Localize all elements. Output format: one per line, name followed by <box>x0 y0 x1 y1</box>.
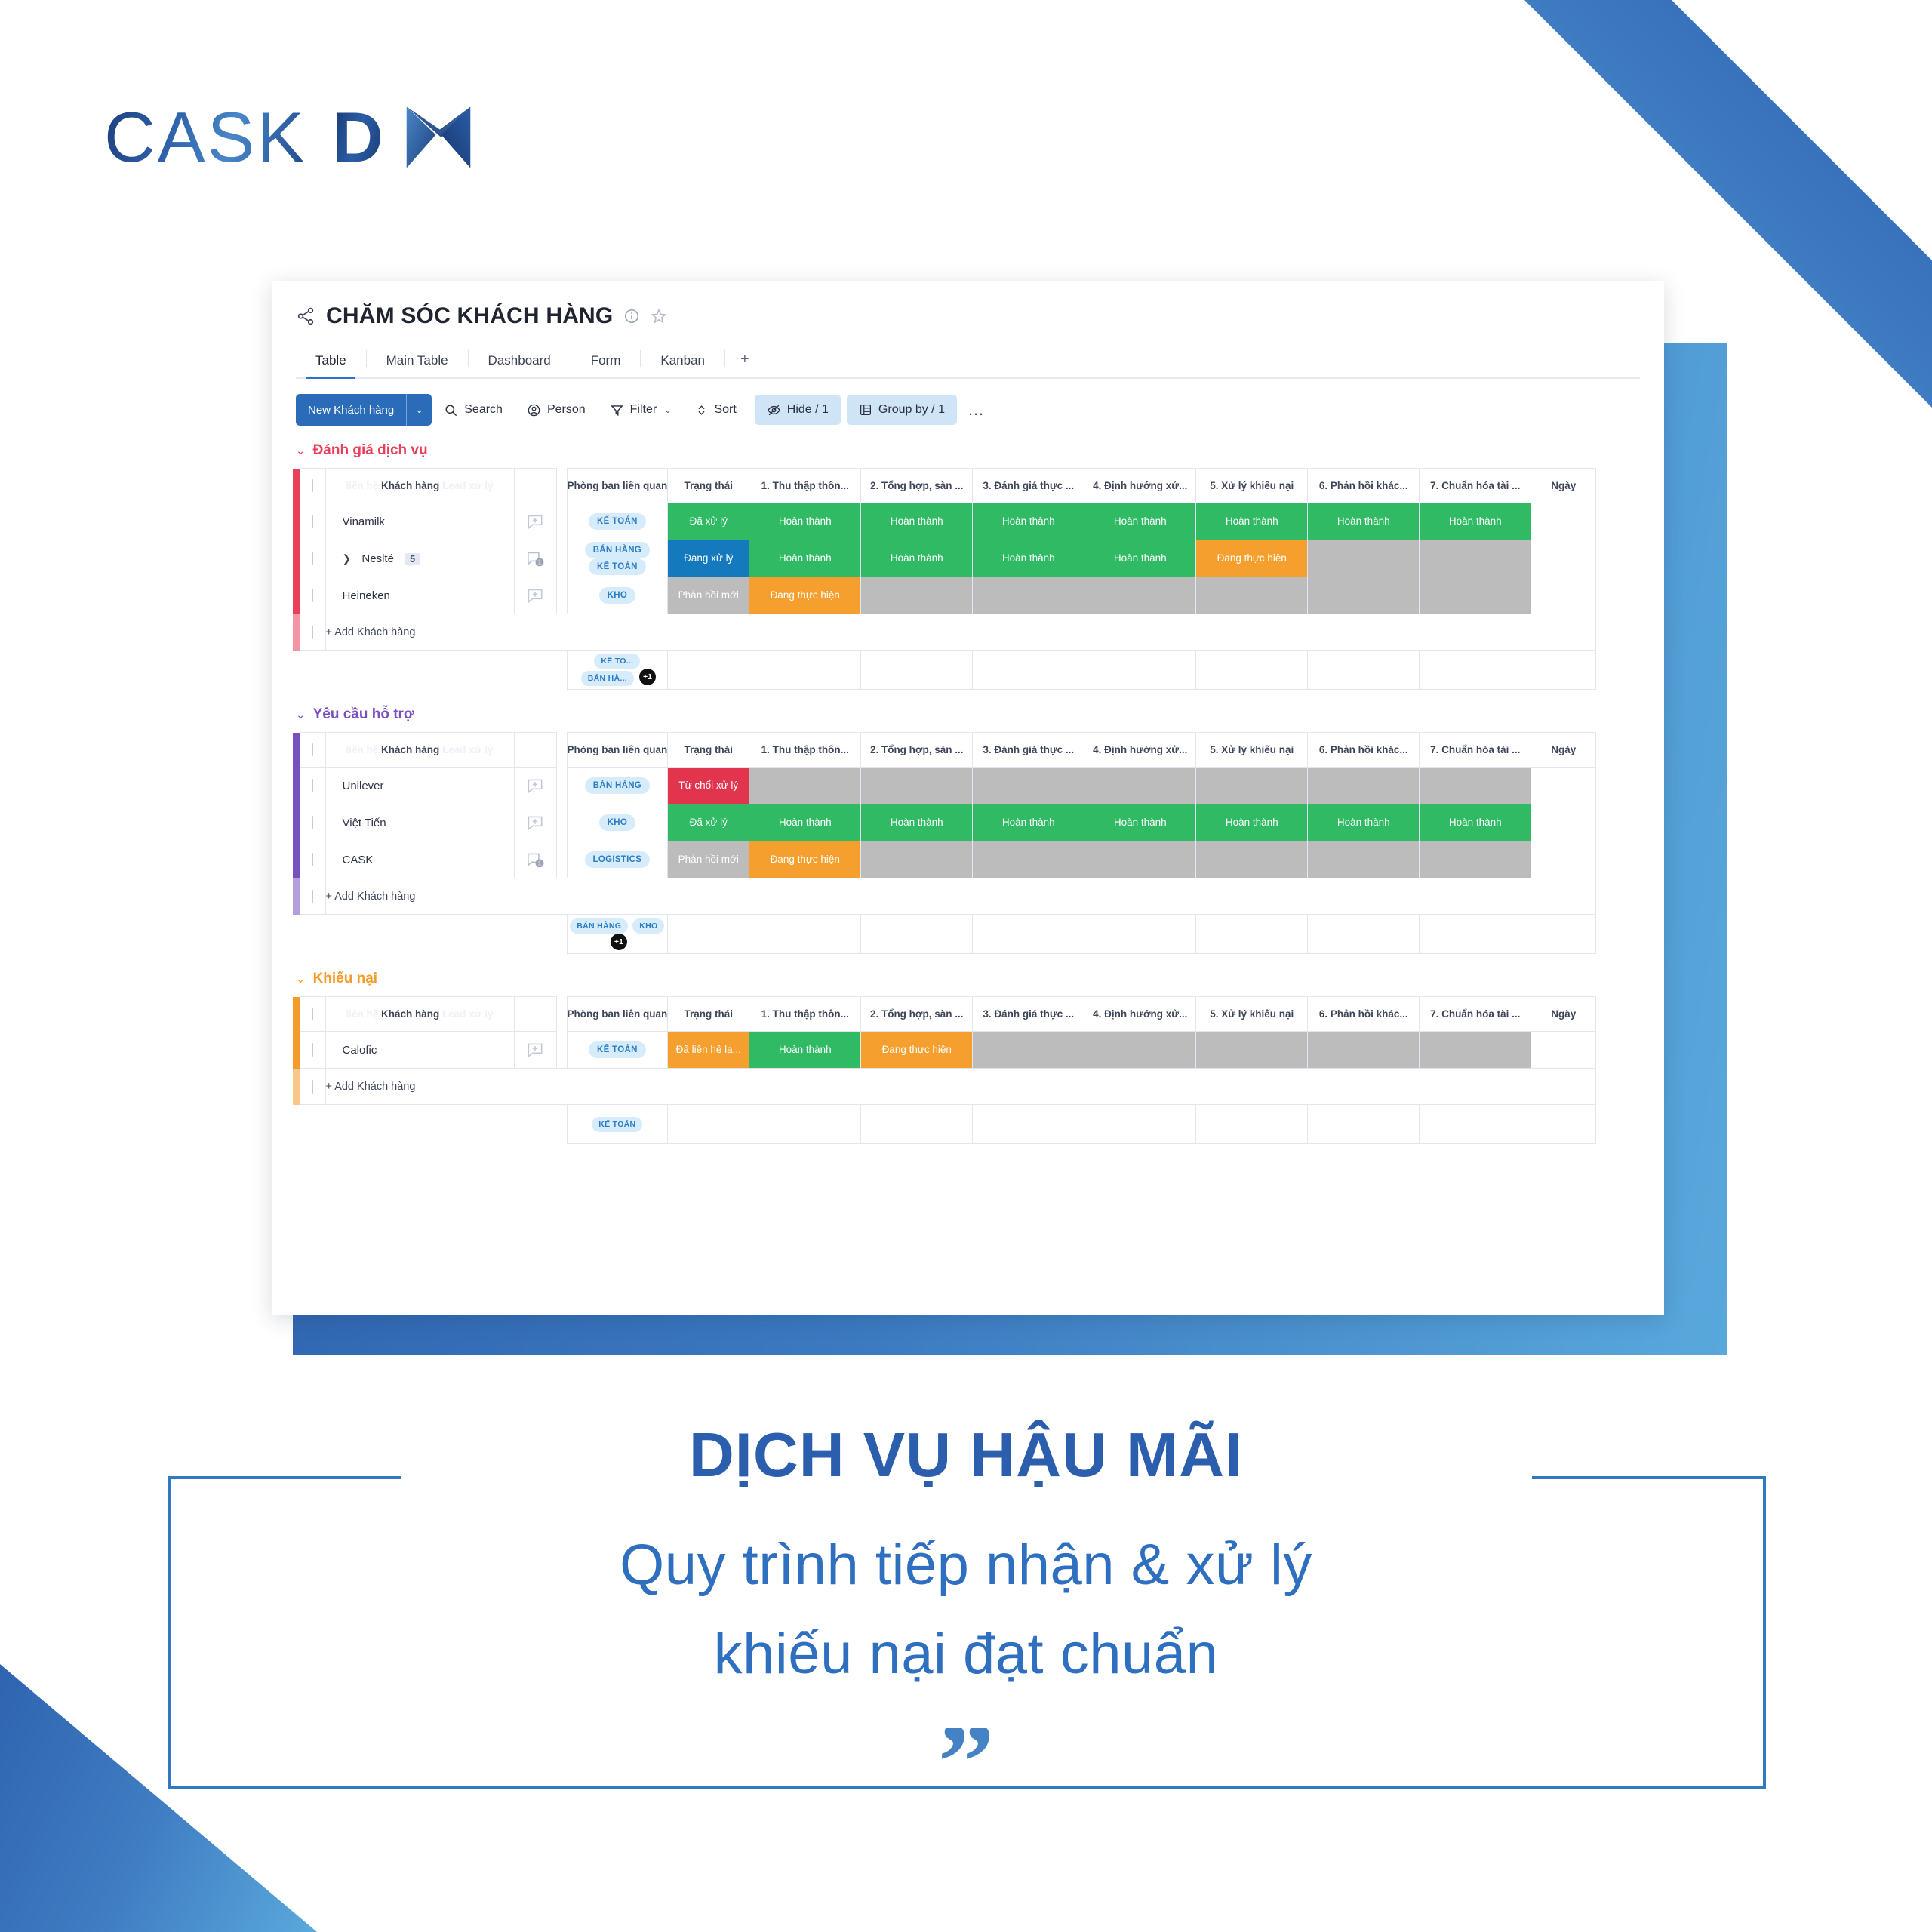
new-item-button[interactable]: New Khách hàng ⌄ <box>296 394 432 426</box>
status-chip: Hoàn thành <box>749 540 860 577</box>
checkbox-icon <box>312 743 313 756</box>
status-chip <box>1196 577 1307 614</box>
grid-cell[interactable] <box>861 841 973 878</box>
grid-cell[interactable]: Hoàn thành <box>861 503 973 540</box>
row-name-cell[interactable]: ❯ Neslté 5 <box>325 540 514 577</box>
chat-plus-icon[interactable] <box>525 586 545 605</box>
dept-tag[interactable]: KHO <box>599 814 635 831</box>
row-name-label: CASK <box>343 854 374 866</box>
table-row[interactable]: Unilever BÁN HÀNG Từ chối xử lý <box>293 768 1596 804</box>
row-chat-cell[interactable] <box>514 804 556 841</box>
status-chip <box>1420 577 1531 614</box>
status-chip <box>1308 1032 1419 1068</box>
row-chat-cell[interactable] <box>514 503 556 540</box>
column-header-step-5[interactable]: 5. Xử lý khiếu nại <box>1196 469 1308 503</box>
add-row-checkbox <box>300 1069 325 1105</box>
column-header-name[interactable]: liên hệ Khách hàng Lead xử lý <box>325 733 514 768</box>
x-butterfly-icon <box>405 103 472 171</box>
summary-step-cell <box>973 915 1084 954</box>
grid-cell[interactable] <box>1420 540 1531 577</box>
star-icon[interactable] <box>651 308 667 325</box>
poster-canvas: CASK D CHĂM SÓC <box>0 0 1932 1932</box>
row-status-cell[interactable]: Đã xử lý <box>668 503 749 540</box>
grid-cell[interactable]: Hoàn thành <box>1084 503 1196 540</box>
checkbox-icon <box>312 626 313 639</box>
row-date-cell[interactable] <box>1531 540 1596 577</box>
row-dept-cell[interactable]: BÁN HÀNG <box>567 768 668 804</box>
table-row[interactable]: Vinamilk KẾ TOÁN Đã xử lý Hoàn thành Hoà… <box>293 503 1596 540</box>
status-chip: Phản hồi mới <box>668 841 749 878</box>
grid-cell[interactable]: Đang thực hiện <box>749 841 861 878</box>
column-header-name[interactable]: liên hệ Khách hàng Lead xử lý <box>325 469 514 503</box>
column-gap <box>556 469 567 503</box>
status-chip <box>1420 768 1531 804</box>
grid-cell[interactable] <box>1196 841 1308 878</box>
row-date-cell[interactable] <box>1531 1032 1596 1069</box>
summary-spacer <box>300 915 325 954</box>
tab-kanban[interactable]: Kanban <box>641 353 724 377</box>
tab-form[interactable]: Form <box>571 353 641 377</box>
chevron-down-icon[interactable]: ⌄ <box>296 972 306 986</box>
grid-cell[interactable]: Hoàn thành <box>973 503 1084 540</box>
subitem-count-badge: 5 <box>405 553 420 565</box>
grid-cell[interactable] <box>1196 577 1308 614</box>
grid-cell[interactable] <box>1420 1032 1531 1069</box>
column-header-step-7[interactable]: 7. Chuẩn hóa tài ... <box>1420 733 1531 768</box>
grid-cell[interactable] <box>1084 768 1196 804</box>
summary-step-cell <box>1196 1105 1308 1144</box>
row-name-label: Calofic <box>343 1044 377 1057</box>
row-checkbox[interactable] <box>300 540 325 577</box>
status-chip <box>973 841 1084 878</box>
row-name-label: Việt Tiến <box>343 817 386 829</box>
status-chip <box>1196 768 1307 804</box>
summary-step-cell <box>1420 1105 1531 1144</box>
grid-cell[interactable] <box>1420 577 1531 614</box>
summary-gap <box>556 915 567 954</box>
grid-cell[interactable]: Hoàn thành <box>973 540 1084 577</box>
checkbox-icon <box>312 479 313 492</box>
column-header-step-7[interactable]: 7. Chuẩn hóa tài ... <box>1420 469 1531 503</box>
person-filter-button[interactable]: Person <box>515 395 598 425</box>
svg-text:1: 1 <box>538 860 542 867</box>
group-color-bar <box>293 469 300 503</box>
status-chip <box>1308 540 1419 577</box>
column-header-dept[interactable]: Phòng ban liên quan <box>567 469 668 503</box>
grid-cell[interactable]: Hoàn thành <box>749 804 861 841</box>
status-chip <box>861 768 972 804</box>
add-row[interactable]: + Add Khách hàng <box>293 878 1596 915</box>
status-chip: Hoàn thành <box>1196 503 1307 540</box>
filter-label: Filter <box>630 403 657 417</box>
board-group: ⌄ Khiếu nại liên hệ Khách hàng Lead xử l… <box>272 971 1664 1144</box>
board-grid: ⌄ Đánh giá dịch vụ liên hệ Khách hàng Le… <box>272 438 1664 1144</box>
grid-cell[interactable]: Hoàn thành <box>749 503 861 540</box>
group-color-bar <box>293 841 300 878</box>
overflow-count-badge: +1 <box>611 934 627 950</box>
hide-columns-button[interactable]: Hide / 1 <box>755 395 841 425</box>
add-view-button[interactable]: + <box>725 351 764 377</box>
row-status-cell[interactable]: Phản hồi mới <box>668 577 749 614</box>
row-checkbox[interactable] <box>300 768 325 804</box>
row-dept-cell[interactable]: LOGISTICS <box>567 841 668 878</box>
dept-tag[interactable]: BÁN HÀNG <box>585 777 650 794</box>
row-status-cell[interactable]: Từ chối xử lý <box>668 768 749 804</box>
column-header-date[interactable]: Ngày <box>1531 733 1596 768</box>
status-chip: Hoàn thành <box>973 804 1084 841</box>
row-dept-cell[interactable]: KẾ TOÁN <box>567 503 668 540</box>
grid-cell[interactable] <box>1084 1032 1196 1069</box>
quote-mark-icon: ” <box>0 1728 1932 1796</box>
chat-plus-icon[interactable] <box>525 512 545 531</box>
column-header-step-4[interactable]: 4. Định hướng xử... <box>1084 733 1196 768</box>
column-header-step-2[interactable]: 2. Tổng hợp, sàn ... <box>861 469 973 503</box>
status-chip: Hoàn thành <box>1196 804 1307 841</box>
status-chip: Hoàn thành <box>973 503 1084 540</box>
grid-cell[interactable] <box>861 768 973 804</box>
card-header: CHĂM SÓC KHÁCH HÀNG Table Main Table Das… <box>272 281 1664 379</box>
group-title-label: Khiếu nại <box>313 971 378 987</box>
row-dept-cell[interactable]: KHO <box>567 577 668 614</box>
row-date-cell[interactable] <box>1531 768 1596 804</box>
checkbox-icon <box>312 779 313 792</box>
group-color-bar <box>293 1032 300 1069</box>
status-chip: Hoàn thành <box>1308 804 1419 841</box>
add-row[interactable]: + Add Khách hàng <box>293 614 1596 651</box>
column-header-step-1[interactable]: 1. Thu thập thôn... <box>749 733 861 768</box>
grid-cell[interactable]: Hoàn thành <box>973 804 1084 841</box>
row-dept-cell[interactable]: BÁN HÀNGKẾ TOÁN <box>567 540 668 577</box>
row-date-cell[interactable] <box>1531 503 1596 540</box>
summary-gap <box>556 1105 567 1144</box>
column-header-step-6[interactable]: 6. Phản hồi khác... <box>1308 469 1420 503</box>
row-dept-cell[interactable]: KHO <box>567 804 668 841</box>
group-header[interactable]: ⌄ Khiếu nại <box>272 971 1664 987</box>
row-name-cell[interactable]: Calofic <box>325 1032 514 1069</box>
add-row-checkbox <box>300 614 325 651</box>
grid-cell[interactable] <box>1308 1032 1420 1069</box>
row-chat-cell[interactable]: 1 <box>514 540 556 577</box>
column-header-step-6[interactable]: 6. Phản hồi khác... <box>1308 997 1420 1032</box>
row-checkbox[interactable] <box>300 841 325 878</box>
row-chat-cell[interactable] <box>514 768 556 804</box>
grid-cell[interactable]: Đang thực hiện <box>861 1032 973 1069</box>
info-icon[interactable] <box>623 308 640 325</box>
column-header-step-7[interactable]: 7. Chuẩn hóa tài ... <box>1420 997 1531 1032</box>
row-date-cell[interactable] <box>1531 804 1596 841</box>
grid-cell[interactable]: Hoàn thành <box>1196 503 1308 540</box>
column-header-step-4[interactable]: 4. Định hướng xử... <box>1084 997 1196 1032</box>
row-gap <box>556 768 567 804</box>
grid-cell[interactable] <box>1308 841 1420 878</box>
summary-dept-cell: BÁN HÀNGKHO+1 <box>567 915 668 954</box>
tab-dashboard[interactable]: Dashboard <box>469 353 571 377</box>
grid-cell[interactable] <box>1420 768 1531 804</box>
grid-cell[interactable] <box>1196 768 1308 804</box>
sort-button[interactable]: Sort <box>683 395 748 425</box>
table-row[interactable]: CASK 1 LOGISTICS Phản hồi mới Đang thực … <box>293 841 1596 878</box>
new-item-label: New Khách hàng <box>296 394 406 426</box>
chat-badge-icon[interactable]: 1 <box>525 549 545 568</box>
table-row[interactable]: ❯ Neslté 5 1 BÁN HÀNGKẾ TOÁN Đang xử lý … <box>293 540 1596 577</box>
table-header-row: liên hệ Khách hàng Lead xử lý Phòng ban … <box>293 469 1596 503</box>
column-header-date[interactable]: Ngày <box>1531 469 1596 503</box>
summary-status-cell <box>668 1105 749 1144</box>
column-header-date[interactable]: Ngày <box>1531 997 1596 1032</box>
add-row-checkbox <box>300 878 325 915</box>
column-header-step-1[interactable]: 1. Thu thập thôn... <box>749 469 861 503</box>
more-options-button[interactable]: … <box>957 400 996 420</box>
row-chat-cell[interactable]: 1 <box>514 841 556 878</box>
grid-cell[interactable]: Hoàn thành <box>861 540 973 577</box>
column-header-step-3[interactable]: 3. Đánh giá thực ... <box>973 469 1084 503</box>
grid-cell[interactable] <box>1308 577 1420 614</box>
chevron-down-icon[interactable]: ⌄ <box>406 394 432 426</box>
status-chip: Đang thực hiện <box>1196 540 1307 577</box>
brand-logo: CASK D <box>104 97 472 178</box>
caption-line-1: Quy trình tiếp nhận & xử lý <box>0 1532 1932 1598</box>
summary-step-cell <box>1084 651 1196 690</box>
status-chip: Đã liên hệ lạ... <box>668 1032 749 1068</box>
summary-spacer <box>293 915 300 954</box>
grid-cell[interactable] <box>861 577 973 614</box>
column-header-chat <box>514 997 556 1032</box>
column-header-step-4[interactable]: 4. Định hướng xử... <box>1084 469 1196 503</box>
chevron-down-icon[interactable]: ⌄ <box>296 444 306 457</box>
share-icon[interactable] <box>296 306 315 326</box>
row-name-cell[interactable]: Việt Tiến <box>325 804 514 841</box>
chevron-down-icon[interactable]: ⌄ <box>296 708 306 721</box>
grid-cell[interactable] <box>1084 577 1196 614</box>
search-button[interactable]: Search <box>432 395 515 425</box>
checkbox-icon <box>312 1080 313 1094</box>
grid-cell[interactable]: Đang thực hiện <box>749 577 861 614</box>
column-header-step-2[interactable]: 2. Tổng hợp, sàn ... <box>861 997 973 1032</box>
status-chip <box>1420 841 1531 878</box>
column-header-status[interactable]: Trạng thái <box>668 733 749 768</box>
group-color-bar <box>293 733 300 768</box>
board-toolbar: New Khách hàng ⌄ Search Person <box>272 379 1664 438</box>
add-row[interactable]: + Add Khách hàng <box>293 1069 1596 1105</box>
status-chip: Đang thực hiện <box>749 841 860 878</box>
add-row-label[interactable]: + Add Khách hàng <box>325 878 1596 915</box>
group-table: liên hệ Khách hàng Lead xử lý Phòng ban … <box>293 996 1596 1144</box>
person-icon <box>527 403 541 417</box>
grid-cell[interactable] <box>749 768 861 804</box>
status-chip: Hoàn thành <box>973 540 1084 577</box>
row-name-label: Vinamilk <box>343 515 385 528</box>
row-checkbox[interactable] <box>300 503 325 540</box>
summary-spacer <box>300 1105 325 1144</box>
grid-cell[interactable] <box>973 768 1084 804</box>
column-header-step-6[interactable]: 6. Phản hồi khác... <box>1308 733 1420 768</box>
column-header-step-2[interactable]: 2. Tổng hợp, sàn ... <box>861 733 973 768</box>
row-name-cell[interactable]: Heineken <box>325 577 514 614</box>
summary-dept-tag: BÁN HÀ... <box>581 671 634 686</box>
tab-main-table[interactable]: Main Table <box>367 353 468 377</box>
table-row[interactable]: Việt Tiến KHO Đã xử lý Hoàn thành Hoàn t… <box>293 804 1596 841</box>
group-header[interactable]: ⌄ Yêu cầu hỗ trợ <box>272 706 1664 723</box>
dept-tag[interactable]: KẾ TOÁN <box>589 1041 646 1058</box>
chat-plus-icon[interactable] <box>525 1040 545 1060</box>
column-header-status[interactable]: Trạng thái <box>668 997 749 1032</box>
add-row-label[interactable]: + Add Khách hàng <box>325 1069 1596 1105</box>
grid-cell[interactable] <box>1308 540 1420 577</box>
row-name-cell[interactable]: CASK <box>325 841 514 878</box>
status-chip <box>1308 768 1419 804</box>
grid-cell[interactable] <box>1420 841 1531 878</box>
grid-cell[interactable] <box>1196 1032 1308 1069</box>
grid-cell[interactable]: Hoàn thành <box>1308 503 1420 540</box>
hide-label: Hide / 1 <box>787 403 829 417</box>
row-name-cell[interactable]: Vinamilk <box>325 503 514 540</box>
column-gap <box>556 997 567 1032</box>
row-checkbox[interactable] <box>300 577 325 614</box>
row-date-cell[interactable] <box>1531 841 1596 878</box>
column-header-dept[interactable]: Phòng ban liên quan <box>567 733 668 768</box>
dept-tag[interactable]: LOGISTICS <box>585 851 651 868</box>
status-chip <box>749 768 860 804</box>
row-chat-cell[interactable] <box>514 1032 556 1069</box>
filter-icon <box>610 403 624 417</box>
select-all-header[interactable] <box>300 469 325 503</box>
status-chip <box>973 577 1084 614</box>
caption-kicker: DỊCH VỤ HẬU MÃI <box>0 1419 1932 1491</box>
grid-cell[interactable] <box>973 577 1084 614</box>
grid-cell[interactable] <box>1308 768 1420 804</box>
checkbox-icon <box>312 515 313 528</box>
row-checkbox[interactable] <box>300 1032 325 1069</box>
grid-cell[interactable]: Hoàn thành <box>1196 804 1308 841</box>
status-chip <box>861 577 972 614</box>
summary-dept-tag: BÁN HÀNG <box>570 918 628 934</box>
dept-tag[interactable]: KẾ TOÁN <box>589 558 646 575</box>
row-gap <box>556 503 567 540</box>
grid-cell[interactable]: Hoàn thành <box>749 1032 861 1069</box>
row-status-cell[interactable]: Đã liên hệ lạ... <box>668 1032 749 1069</box>
row-checkbox[interactable] <box>300 804 325 841</box>
chat-plus-icon[interactable] <box>525 776 545 795</box>
status-chip <box>1084 577 1195 614</box>
column-header-step-5[interactable]: 5. Xử lý khiếu nại <box>1196 733 1308 768</box>
summary-step-cell <box>1084 1105 1196 1144</box>
row-status-cell[interactable]: Đang xử lý <box>668 540 749 577</box>
table-row[interactable]: Heineken KHO Phản hồi mới Đang thực hiện <box>293 577 1596 614</box>
eye-off-icon <box>767 403 781 417</box>
group-color-bar <box>293 878 300 915</box>
summary-status-cell <box>668 915 749 954</box>
row-date-cell[interactable] <box>1531 577 1596 614</box>
tab-table[interactable]: Table <box>296 353 366 377</box>
select-all-header[interactable] <box>300 733 325 768</box>
grid-cell[interactable]: Hoàn thành <box>861 804 973 841</box>
app-window-card: CHĂM SÓC KHÁCH HÀNG Table Main Table Das… <box>272 281 1664 1315</box>
column-header-chat <box>514 733 556 768</box>
page-title: CHĂM SÓC KHÁCH HÀNG <box>326 303 613 329</box>
table-row[interactable]: Calofic KẾ TOÁN Đã liên hệ lạ... Hoàn th… <box>293 1032 1596 1069</box>
dept-tag[interactable]: KẾ TOÁN <box>589 513 646 530</box>
row-chat-cell[interactable] <box>514 577 556 614</box>
grid-cell[interactable]: Hoàn thành <box>1084 804 1196 841</box>
summary-step-cell <box>1420 915 1531 954</box>
row-dept-cell[interactable]: KẾ TOÁN <box>567 1032 668 1069</box>
status-chip: Hoàn thành <box>861 540 972 577</box>
summary-dept-tag: KẾ TOÁN <box>592 1117 642 1132</box>
checkbox-icon <box>312 816 313 829</box>
column-header-step-1[interactable]: 1. Thu thập thôn... <box>749 997 861 1032</box>
column-header-dept[interactable]: Phòng ban liên quan <box>567 997 668 1032</box>
row-status-cell[interactable]: Đã xử lý <box>668 804 749 841</box>
checkbox-icon <box>312 853 313 866</box>
dept-tag[interactable]: BÁN HÀNG <box>585 542 650 558</box>
grid-cell[interactable]: Hoàn thành <box>1084 540 1196 577</box>
summary-spacer <box>325 915 514 954</box>
expand-row-icon[interactable]: ❯ <box>343 552 352 565</box>
row-name-label: Heineken <box>343 589 390 602</box>
chat-badge-icon[interactable]: 1 <box>525 850 545 869</box>
table-header-row: liên hệ Khách hàng Lead xử lý Phòng ban … <box>293 997 1596 1032</box>
svg-text:1: 1 <box>538 559 542 566</box>
status-chip: Đã xử lý <box>668 503 749 540</box>
status-chip <box>1084 841 1195 878</box>
group-header[interactable]: ⌄ Đánh giá dịch vụ <box>272 442 1664 459</box>
status-chip: Hoàn thành <box>749 804 860 841</box>
summary-step-cell <box>749 651 861 690</box>
grid-cell[interactable] <box>1084 841 1196 878</box>
grid-cell[interactable]: Hoàn thành <box>1308 804 1420 841</box>
sort-icon <box>695 403 708 417</box>
table-header-row: liên hệ Khách hàng Lead xử lý Phòng ban … <box>293 733 1596 768</box>
grid-cell[interactable]: Hoàn thành <box>1420 503 1531 540</box>
status-chip: Hoàn thành <box>861 804 972 841</box>
dept-tag[interactable]: KHO <box>599 587 635 604</box>
grid-cell[interactable]: Hoàn thành <box>1420 804 1531 841</box>
column-header-status[interactable]: Trạng thái <box>668 469 749 503</box>
summary-step-cell <box>861 651 973 690</box>
column-header-name[interactable]: liên hệ Khách hàng Lead xử lý <box>325 997 514 1032</box>
summary-dept-tag: KHO <box>632 918 664 934</box>
summary-step-cell <box>1308 1105 1420 1144</box>
status-chip: Hoàn thành <box>749 503 860 540</box>
row-name-cell[interactable]: Unilever <box>325 768 514 804</box>
summary-date-cell <box>1531 915 1596 954</box>
chat-plus-icon[interactable] <box>525 813 545 832</box>
status-chip <box>1308 841 1419 878</box>
summary-spacer <box>514 915 556 954</box>
column-header-step-3[interactable]: 3. Đánh giá thực ... <box>973 997 1084 1032</box>
checkbox-icon <box>312 890 313 903</box>
select-all-header[interactable] <box>300 997 325 1032</box>
status-chip <box>973 1032 1084 1068</box>
overflow-count-badge: +1 <box>639 669 656 685</box>
grid-cell[interactable] <box>973 1032 1084 1069</box>
logo-d-text: D <box>332 97 384 178</box>
board-title-row: CHĂM SÓC KHÁCH HÀNG <box>296 300 1640 332</box>
summary-spacer <box>293 651 300 690</box>
group-color-bar <box>293 503 300 540</box>
summary-spacer <box>514 651 556 690</box>
column-header-step-5[interactable]: 5. Xử lý khiếu nại <box>1196 997 1308 1032</box>
grid-cell[interactable] <box>973 841 1084 878</box>
grid-cell[interactable]: Hoàn thành <box>749 540 861 577</box>
add-row-label[interactable]: + Add Khách hàng <box>325 614 1596 651</box>
group-by-button[interactable]: Group by / 1 <box>847 395 957 425</box>
group-table: liên hệ Khách hàng Lead xử lý Phòng ban … <box>293 468 1596 690</box>
grid-cell[interactable]: Đang thực hiện <box>1196 540 1308 577</box>
row-status-cell[interactable]: Phản hồi mới <box>668 841 749 878</box>
filter-button[interactable]: Filter ⌄ <box>598 395 684 425</box>
column-header-step-3[interactable]: 3. Đánh giá thực ... <box>973 733 1084 768</box>
